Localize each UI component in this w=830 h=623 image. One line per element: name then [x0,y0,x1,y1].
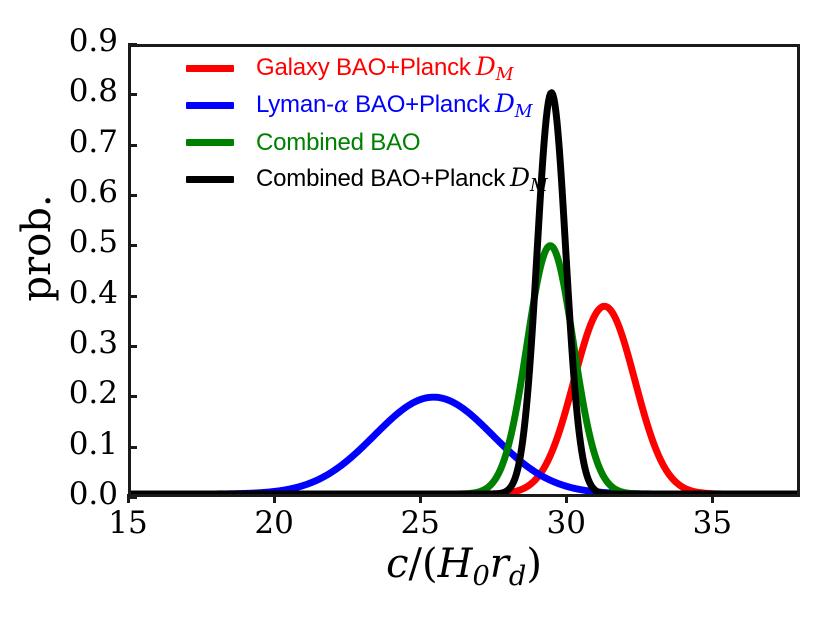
legend-label-suffix: BAO+Planck [349,91,490,118]
legend-math-subscript: M [530,176,548,196]
legend-color-swatch [186,102,234,109]
x-tick-mark [273,494,276,503]
x-tick-mark [711,494,714,503]
curve-galaxy-bao-planck-d-m [131,306,797,494]
y-axis-label: prob. [14,148,60,348]
legend-label: Combined BAO+PlanckDM [256,163,548,196]
legend-item[interactable]: Combined BAO+PlanckDM [186,161,616,198]
y-tick-mark [128,93,137,96]
y-tick-mark [128,345,137,348]
y-tick-mark [128,144,137,147]
curve-lyman-alpha-bao-planck-d-m [131,397,797,494]
x-axis-label: c/(H0rd) [128,541,800,592]
legend-item[interactable]: Combined BAO [186,124,616,161]
y-tick-mark [128,446,137,449]
y-tick-mark [128,395,137,398]
legend-math-symbol: DM [505,163,548,192]
legend-math-subscript: M [515,102,533,122]
alpha-symbol: α [334,93,349,118]
figure-canvas: 0.00.10.20.30.40.50.60.70.80.9 prob. 152… [0,0,830,623]
legend-label-text: Combined BAO+Planck [256,165,505,192]
legend-math-symbol: DM [471,52,514,81]
curve-combined-bao [131,246,797,494]
legend-label-prefix: Lyman- [256,91,334,118]
x-tick-label: 35 [667,505,757,541]
y-tick-mark [128,295,137,298]
y-tick-mark [128,244,137,247]
legend-label-text: Combined BAO [256,129,420,156]
legend-math-base: D [510,163,530,192]
legend-label: Galaxy BAO+PlanckDM [256,52,513,85]
y-tick-mark [128,43,137,46]
legend-color-swatch [186,139,234,146]
x-tick-label: 15 [83,505,173,541]
y-tick-label: 0.8 [26,76,118,107]
y-tick-label: 0.2 [26,378,118,409]
x-tick-mark [419,494,422,503]
legend-color-swatch [186,176,234,183]
legend-label-text: Galaxy BAO+Planck [256,54,471,81]
legend-math-symbol: DM [490,89,533,118]
legend-label: Combined BAO [256,129,420,157]
x-tick-label: 30 [521,505,611,541]
legend-color-swatch [186,65,234,72]
legend-math-base: D [495,89,515,118]
x-tick-label: 25 [375,505,465,541]
xlabel-H-subscript: 0 [472,561,489,592]
legend: Galaxy BAO+PlanckDMLyman-α BAO+PlanckDMC… [186,50,616,198]
xlabel-r-subscript: d [509,561,526,592]
xlabel-H: H [438,541,473,587]
y-tick-mark [128,496,137,499]
y-tick-label: 0.1 [26,429,118,460]
xlabel-slash: /( [408,541,437,587]
legend-math-subscript: M [496,65,514,85]
legend-item[interactable]: Galaxy BAO+PlanckDM [186,50,616,87]
legend-item[interactable]: Lyman-α BAO+PlanckDM [186,87,616,124]
y-tick-mark [128,194,137,197]
xlabel-r: r [490,541,509,587]
xlabel-c: c [386,541,408,587]
y-tick-label: 0.9 [26,26,118,57]
legend-math-base: D [476,52,496,81]
xlabel-close-paren: ) [526,541,542,587]
x-tick-label: 20 [229,505,319,541]
x-tick-mark [565,494,568,503]
legend-label: Lyman-α BAO+PlanckDM [256,89,532,122]
